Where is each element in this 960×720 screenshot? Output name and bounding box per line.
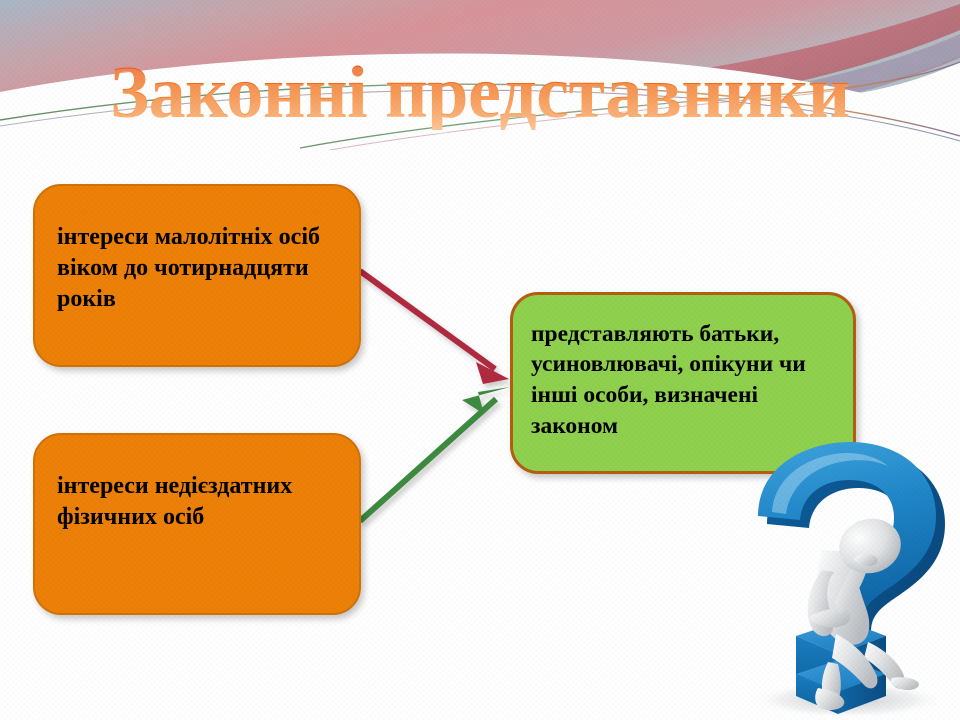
presentation-slide: Законні представники інтереси малолітніх…: [0, 0, 960, 720]
box-incapable-interests[interactable]: інтереси недієздатних фізичних осіб: [33, 433, 361, 615]
thinking-person-question-mark-icon: [718, 438, 960, 720]
box-representatives-label: представляють батьки, усиновлювачі, опік…: [531, 319, 835, 441]
box-minor-interests-label: інтереси малолітніх осіб віком до чотирн…: [57, 222, 337, 315]
arrow-minor-to-representatives: [360, 271, 509, 388]
arrow-incapable-to-representatives: [360, 387, 510, 521]
box-minor-interests[interactable]: інтереси малолітніх осіб віком до чотирн…: [33, 184, 361, 367]
box-incapable-interests-label: інтереси недієздатних фізичних осіб: [57, 471, 337, 533]
slide-title: Законні представники: [0, 56, 960, 130]
